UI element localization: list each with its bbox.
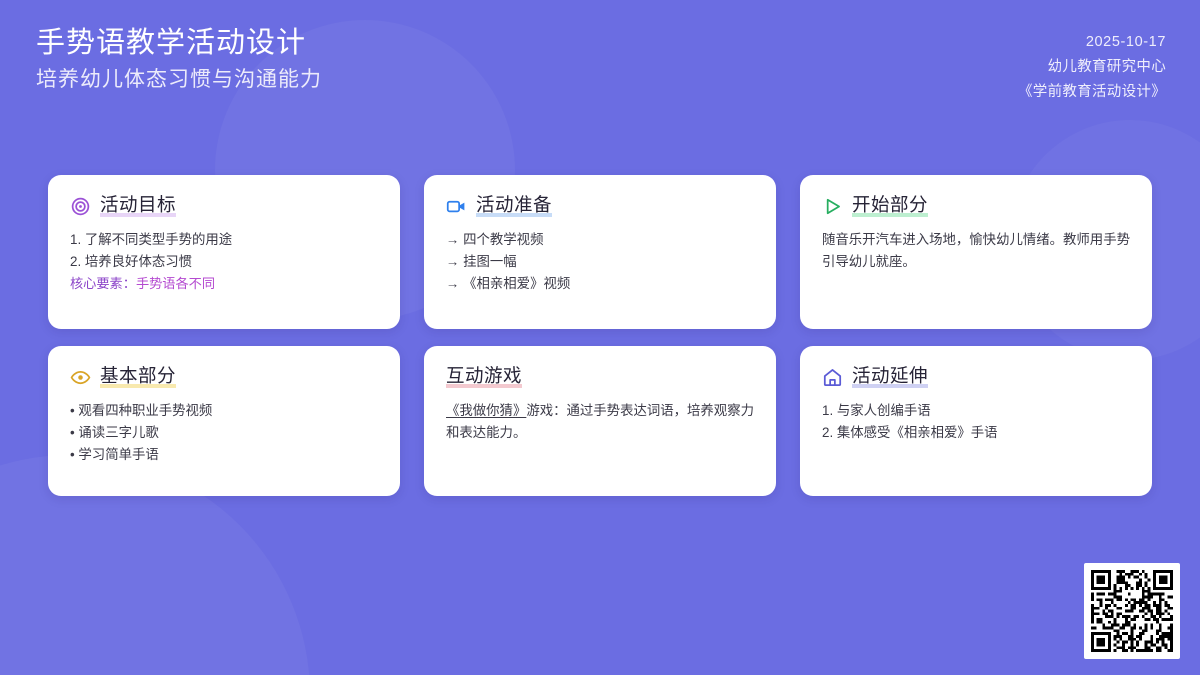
list-item: → 《相亲相爱》视频 bbox=[446, 273, 754, 295]
card-header: 活动准备 bbox=[446, 195, 754, 217]
card-paragraph: 《我做你猜》游戏：通过手势表达词语，培养观察力和表达能力。 bbox=[446, 400, 754, 443]
list-item: → 挂图一幅 bbox=[446, 251, 754, 273]
header-source: 《学前教育活动设计》 bbox=[1018, 82, 1166, 103]
target-icon bbox=[70, 196, 91, 217]
list-item: → 四个教学视频 bbox=[446, 229, 754, 251]
page-title: 手势语教学活动设计 bbox=[36, 26, 322, 60]
eye-icon bbox=[70, 367, 91, 388]
card-header: 互动游戏 bbox=[446, 366, 754, 388]
title-block: 手势语教学活动设计 培养幼儿体态习惯与沟通能力 bbox=[36, 26, 322, 92]
card-note-value: 手势语各不同 bbox=[136, 276, 215, 291]
list-item: 2. 培养良好体态习惯 bbox=[70, 251, 378, 273]
card-note: 核心要素：手势语各不同 bbox=[70, 273, 378, 294]
card-header: 开始部分 bbox=[822, 195, 1130, 217]
card-activity-goal[interactable]: 活动目标1. 了解不同类型手势的用途2. 培养良好体态习惯核心要素：手势语各不同 bbox=[48, 175, 400, 329]
header-meta: 2025-10-17 幼儿教育研究中心 《学前教育活动设计》 bbox=[1018, 26, 1166, 103]
card-note-label: 核心要素： bbox=[70, 276, 136, 291]
card-header: 活动延伸 bbox=[822, 366, 1130, 388]
card-title: 开始部分 bbox=[852, 195, 928, 217]
card-title: 活动准备 bbox=[476, 195, 552, 217]
video-camera-icon bbox=[446, 196, 467, 217]
card-body: 1. 与家人创编手语2. 集体感受《相亲相爱》手语 bbox=[822, 400, 1130, 443]
list-item: 2. 集体感受《相亲相爱》手语 bbox=[822, 422, 1130, 444]
header-date: 2025-10-17 bbox=[1086, 32, 1166, 53]
card-body: 随音乐开汽车进入场地，愉快幼儿情绪。教师用手势引导幼儿就座。 bbox=[822, 229, 1130, 272]
card-grid: 活动目标1. 了解不同类型手势的用途2. 培养良好体态习惯核心要素：手势语各不同… bbox=[48, 175, 1152, 496]
game-name-highlight: 《我做你猜》 bbox=[446, 403, 526, 418]
slide-root: 手势语教学活动设计 培养幼儿体态习惯与沟通能力 2025-10-17 幼儿教育研… bbox=[0, 0, 1200, 675]
card-body: 1. 了解不同类型手势的用途2. 培养良好体态习惯核心要素：手势语各不同 bbox=[70, 229, 378, 294]
card-paragraph: 随音乐开汽车进入场地，愉快幼儿情绪。教师用手势引导幼儿就座。 bbox=[822, 229, 1130, 272]
card-header: 活动目标 bbox=[70, 195, 378, 217]
card-body: → 四个教学视频→ 挂图一幅→ 《相亲相爱》视频 bbox=[446, 229, 754, 294]
card-header: 基本部分 bbox=[70, 366, 378, 388]
card-title: 互动游戏 bbox=[446, 366, 522, 388]
home-icon bbox=[822, 367, 843, 388]
list-item: 1. 与家人创编手语 bbox=[822, 400, 1130, 422]
card-title: 活动延伸 bbox=[852, 366, 928, 388]
card-title: 活动目标 bbox=[100, 195, 176, 217]
card-body: 《我做你猜》游戏：通过手势表达词语，培养观察力和表达能力。 bbox=[446, 400, 754, 443]
card-body: • 观看四种职业手势视频• 诵读三字儿歌• 学习简单手语 bbox=[70, 400, 378, 465]
slide-header: 手势语教学活动设计 培养幼儿体态习惯与沟通能力 2025-10-17 幼儿教育研… bbox=[0, 0, 1200, 140]
list-item: • 诵读三字儿歌 bbox=[70, 422, 378, 444]
page-subtitle: 培养幼儿体态习惯与沟通能力 bbox=[36, 67, 322, 92]
card-activity-prep[interactable]: 活动准备→ 四个教学视频→ 挂图一幅→ 《相亲相爱》视频 bbox=[424, 175, 776, 329]
qr-code[interactable] bbox=[1084, 563, 1180, 659]
play-triangle-icon bbox=[822, 196, 843, 217]
qr-code-image bbox=[1091, 570, 1173, 652]
header-organization: 幼儿教育研究中心 bbox=[1048, 57, 1166, 78]
list-item: • 学习简单手语 bbox=[70, 444, 378, 466]
card-basic-section[interactable]: 基本部分• 观看四种职业手势视频• 诵读三字儿歌• 学习简单手语 bbox=[48, 346, 400, 496]
card-activity-extension[interactable]: 活动延伸1. 与家人创编手语2. 集体感受《相亲相爱》手语 bbox=[800, 346, 1152, 496]
card-start-section[interactable]: 开始部分随音乐开汽车进入场地，愉快幼儿情绪。教师用手势引导幼儿就座。 bbox=[800, 175, 1152, 329]
list-item: • 观看四种职业手势视频 bbox=[70, 400, 378, 422]
card-title: 基本部分 bbox=[100, 366, 176, 388]
card-interactive-game[interactable]: 互动游戏《我做你猜》游戏：通过手势表达词语，培养观察力和表达能力。 bbox=[424, 346, 776, 496]
list-item: 1. 了解不同类型手势的用途 bbox=[70, 229, 378, 251]
